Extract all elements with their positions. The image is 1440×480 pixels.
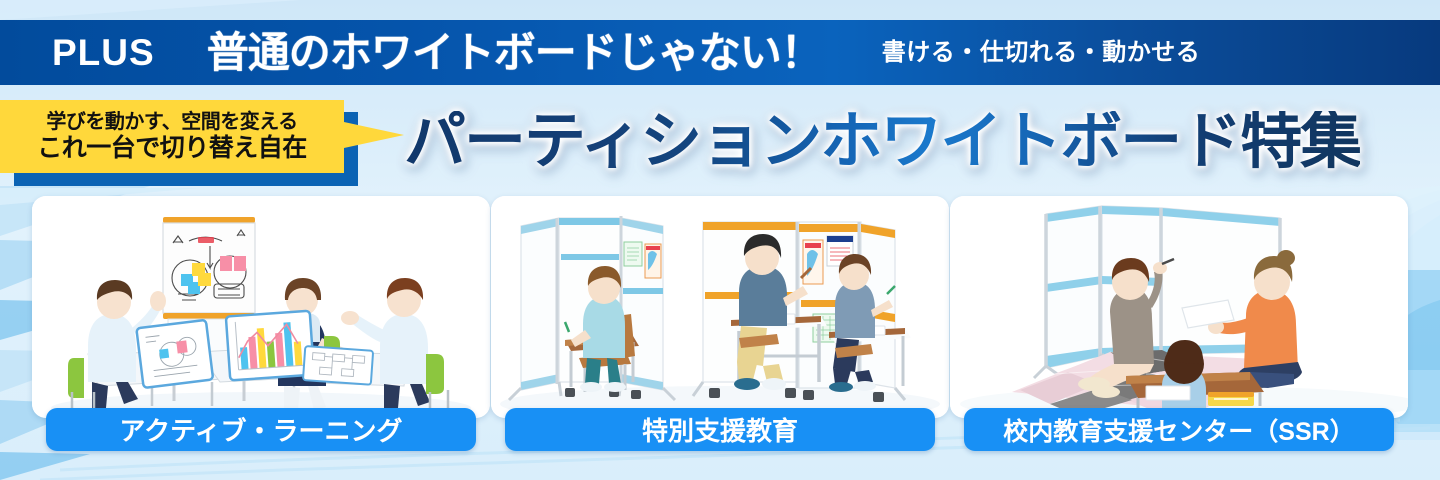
illustration-special-support [491, 196, 949, 418]
card-list: アクティブ・ラーニング [0, 196, 1440, 464]
card-image-ssr [950, 196, 1408, 418]
banner-root: PLUS 普通のホワイトボードじゃない！ 書ける・仕切れる・動かせる 学びを動か… [0, 0, 1440, 480]
callout-badge: 学びを動かす、空間を変える これ一台で切り替え自在 [0, 100, 400, 186]
card-label-ssr[interactable]: 校内教育支援センター（SSR） [964, 408, 1394, 451]
header-subline: 書ける・仕切れる・動かせる [882, 41, 1201, 65]
callout-badge-line1: 学びを動かす、空間を変える [46, 111, 297, 133]
header-band: PLUS 普通のホワイトボードじゃない！ 書ける・仕切れる・動かせる [0, 20, 1440, 85]
card-active-learning[interactable]: アクティブ・ラーニング [32, 196, 490, 464]
card-label-special-support[interactable]: 特別支援教育 [505, 408, 935, 451]
card-special-support[interactable]: 特別支援教育 [491, 196, 949, 464]
card-image-active-learning [32, 196, 490, 418]
header-headline: 普通のホワイトボードじゃない！ [207, 32, 822, 74]
callout-badge-body: 学びを動かす、空間を変える これ一台で切り替え自在 [0, 100, 344, 173]
card-label-active-learning[interactable]: アクティブ・ラーニング [46, 408, 476, 451]
page-title: パーティションホワイトボード特集 パーティションホワイトボード特集 [404, 98, 1434, 186]
card-image-special-support [491, 196, 949, 418]
callout-badge-line2: これ一台で切り替え自在 [37, 134, 307, 162]
illustration-active-learning [32, 196, 490, 418]
brand-logo: PLUS [52, 34, 155, 71]
illustration-ssr [950, 196, 1408, 418]
callout-badge-arrow-icon [344, 122, 404, 148]
card-ssr[interactable]: 校内教育支援センター（SSR） [950, 196, 1408, 464]
page-title-text: パーティションホワイトボード特集 [404, 111, 1360, 173]
